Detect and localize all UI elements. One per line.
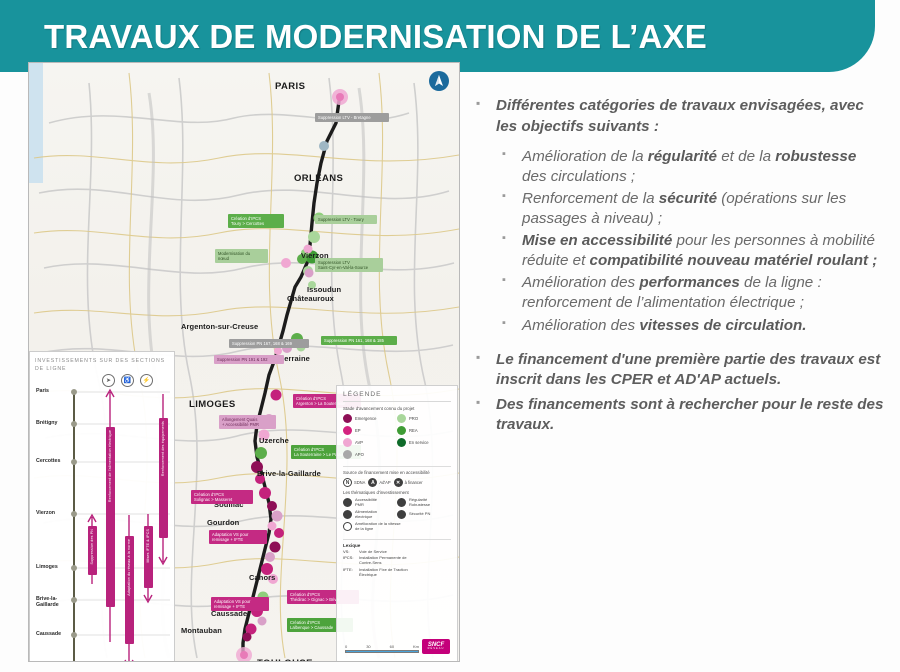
investment-bar: Renforcement des équipements xyxy=(159,418,168,539)
city-label: Issoudun xyxy=(307,285,341,294)
lexicon-definition: Voie de Service xyxy=(359,550,387,555)
investment-bar: Mises IFTE & IPCS xyxy=(144,526,153,588)
map-annotation-label: Suppression PN 191 & 192 xyxy=(214,355,284,364)
legend-stage-list: EmergencePROEPREAAVPEn serviceAPO xyxy=(343,414,451,462)
lexicon-row: VS:Voie de Service xyxy=(343,550,451,555)
legend-theme-item: Alimentation électrique xyxy=(343,510,397,519)
city-label: Cahors xyxy=(249,573,275,582)
map-annotation-label: Suppression LTV - Toury xyxy=(315,215,377,224)
map-annotation-label: Allongement Quais + Accessibilité PMR xyxy=(219,415,276,429)
speed-icon xyxy=(343,522,352,531)
bullet-level-1: Le financement d'une première partie des… xyxy=(472,350,884,391)
wheelchair-icon: ♿ xyxy=(121,374,134,387)
legend-theme-item: Sécurité PN xyxy=(397,510,451,519)
legend-stage-item: APO xyxy=(343,450,397,459)
shield-icon xyxy=(397,510,406,519)
legend-funding-item: ✕à financer xyxy=(394,478,423,487)
map-annotation-label: Suppression LTV - Bretagne xyxy=(315,113,389,122)
bullet-level-1-text: Des financements sont à rechercher pour … xyxy=(496,396,883,434)
map-panel[interactable]: PARISORLÉANSVierzonIssoudunChâteaurouxAr… xyxy=(28,62,460,662)
scalebar-tick: 60 xyxy=(390,644,394,649)
city-label: Châteauroux xyxy=(287,294,334,303)
legend-stage-item: EP xyxy=(343,426,397,435)
legend-stage-item: AVP xyxy=(343,438,397,447)
bullet-sublist: Amélioration de la régularité et de la r… xyxy=(496,147,884,336)
speed-icon: ➤ xyxy=(102,374,115,387)
legend-theme-label: Amélioration de la vitesse de la ligne xyxy=(355,522,401,531)
legend-color-swatch xyxy=(343,414,352,423)
legend-title: LÉGENDE xyxy=(343,391,451,402)
legend-stage-item: PRO xyxy=(397,414,451,423)
map-annotation-label: Suppression PN 161, 168 & 185 xyxy=(321,336,397,345)
legend-theme-label: Accessibilité PMR xyxy=(355,498,377,507)
lexicon-key: IFTE: xyxy=(343,568,356,578)
lexicon-definition: Installation Fixe de Traction Électrique xyxy=(359,568,408,578)
legend-funding-item: NSDNA xyxy=(343,478,365,487)
city-label: Argenton-sur-Creuse xyxy=(181,322,258,331)
investment-bar-label: Suppression des PN xyxy=(90,529,94,564)
clock-icon xyxy=(397,498,406,507)
legend-stage-label: REA xyxy=(409,428,418,433)
map-annotation-label: Suppression PN 167, 168 & 169 xyxy=(229,339,309,348)
investment-station-label: Caussade xyxy=(36,631,61,637)
investment-station-label: Vierzon xyxy=(36,510,55,516)
bullet-level-2: Amélioration des vitesses de circulation… xyxy=(496,316,884,336)
bullet-list: Différentes catégories de travaux envisa… xyxy=(472,96,884,436)
map-annotation-label: Suppression LTV Saint-Cyr-en-Val-la-Sour… xyxy=(315,258,383,272)
scalebar-tick: 30 xyxy=(366,644,370,649)
city-label: Uzerche xyxy=(259,436,289,445)
map-annotation-label: Création d'IPCS Solignac > Masseret xyxy=(191,490,253,504)
map-annotation-label: Création d'IPCS Toury > Cercottes xyxy=(228,214,284,228)
slide-root: TRAVAUX DE MODERNISATION DE L’AXE xyxy=(0,0,900,672)
bullet-level-1: Différentes catégories de travaux envisa… xyxy=(472,96,884,336)
bullet-level-1: Des financements sont à rechercher pour … xyxy=(472,395,884,436)
legend-stage-label: Emergence xyxy=(355,416,376,421)
investment-bar-label: Mises IFTE & IPCS xyxy=(146,529,150,563)
investment-station-label: Toulouse xyxy=(36,661,59,662)
wheelchair-icon xyxy=(343,498,352,507)
lexicon-key: IPCS: xyxy=(343,556,356,566)
legend-theme-item: Régularité Robustesse xyxy=(397,498,451,507)
scalebar-line xyxy=(345,650,419,653)
legend-funding-label: Ad'AP xyxy=(379,480,390,485)
legend-stage-label: APO xyxy=(355,452,364,457)
scalebar-unit: Km xyxy=(413,644,419,649)
map-annotation-label: Adaptation VS pour remisage + IFTE xyxy=(209,530,267,544)
city-label: LIMOGES xyxy=(189,399,236,410)
legend-color-swatch xyxy=(343,438,352,447)
city-label: Montauban xyxy=(181,626,222,635)
funding-financer-icon: ✕ xyxy=(394,478,403,487)
investment-chart-plot: ➤♿⚡ ParisBrétignyCercottesVierzonLimoges… xyxy=(30,352,174,662)
city-label: TOULOUSE xyxy=(257,658,313,662)
plug-icon xyxy=(343,510,352,519)
legend-divider-2 xyxy=(343,539,451,540)
lexicon-definition: Installation Permanente de Contre-Sens xyxy=(359,556,407,566)
investment-bar: Adaptation du réseau à la norme xyxy=(125,536,134,644)
content-column: Différentes catégories de travaux envisa… xyxy=(472,96,884,662)
funding-adap-icon: A xyxy=(368,478,377,487)
legend-theme-list: Accessibilité PMRRégularité RobustesseAl… xyxy=(343,498,451,535)
funding-sdna-icon: N xyxy=(343,478,352,487)
logo-subtext: RÉSEAU xyxy=(428,648,445,651)
bullet-level-2: Renforcement de la sécurité (opérations … xyxy=(496,189,884,229)
investment-station-label: Paris xyxy=(36,388,49,394)
investment-bar: Renforcement de l'alimentation électriqu… xyxy=(106,427,115,607)
legend-color-swatch xyxy=(397,426,406,435)
legend-theme-label: Sécurité PN xyxy=(409,512,430,517)
bullet-level-2: Mise en accessibilité pour les personnes… xyxy=(496,231,884,271)
legend-divider-1 xyxy=(343,466,451,467)
investment-chart-panel: Investissements sur des sections de lign… xyxy=(29,351,175,662)
investment-bar-label: Adaptation du réseau à la norme xyxy=(127,539,131,596)
city-label: Brive-la-Gaillarde xyxy=(257,469,321,478)
lexicon-key: VS: xyxy=(343,550,356,555)
lexicon-row: IPCS:Installation Permanente de Contre-S… xyxy=(343,556,451,566)
legend-funding-item: AAd'AP xyxy=(368,478,390,487)
city-label: Gourdon xyxy=(207,518,239,527)
legend-funding-label: à financer xyxy=(405,480,423,485)
north-arrow-icon xyxy=(429,71,449,91)
city-label: ORLÉANS xyxy=(294,173,343,184)
legend-funding-label: SDNA xyxy=(354,480,365,485)
legend-color-swatch xyxy=(343,450,352,459)
legend-themes-heading: Les thématiques d'investissement xyxy=(343,490,451,495)
investment-bar-label: Renforcement de l'alimentation électriqu… xyxy=(108,430,112,502)
legend-stage-label: PRO xyxy=(409,416,418,421)
legend-stage-item: En service xyxy=(397,438,451,447)
legend-lexicon-list: VS:Voie de ServiceIPCS:Installation Perm… xyxy=(343,550,451,578)
investment-station-label: Brive-la- Gaillarde xyxy=(36,596,59,608)
legend-color-swatch xyxy=(397,414,406,423)
map-annotation-label: Modernisation du nœud xyxy=(215,249,268,263)
investment-chart-svg xyxy=(30,352,176,662)
legend-funding-list: NSDNAAAd'AP✕à financer xyxy=(343,478,451,487)
legend-stage-item: REA xyxy=(397,426,451,435)
city-label: PARIS xyxy=(275,81,305,92)
legend-stage-label: AVP xyxy=(355,440,363,445)
legend-lexicon-heading: Lexique xyxy=(343,543,451,548)
legend-color-swatch xyxy=(343,426,352,435)
legend-theme-label: Régularité Robustesse xyxy=(409,498,430,507)
investment-station-label: Cercottes xyxy=(36,458,60,464)
plug-icon: ⚡ xyxy=(140,374,153,387)
scalebar-tick: 0 xyxy=(345,644,347,649)
sncf-reseau-logo: SNCF RÉSEAU xyxy=(422,639,450,654)
investment-bar: Suppression des PN xyxy=(88,526,97,574)
legend-funding-heading: Source de financement mise en accessibil… xyxy=(343,470,451,475)
investment-station-label: Brétigny xyxy=(36,420,58,426)
page-title: TRAVAUX DE MODERNISATION DE L’AXE xyxy=(44,18,707,56)
investment-bar-label: Renforcement des équipements xyxy=(161,421,165,476)
bullet-level-2: Amélioration des performances de la lign… xyxy=(496,273,884,313)
legend-theme-label: Alimentation électrique xyxy=(355,510,377,519)
bullet-level-2: Amélioration de la régularité et de la r… xyxy=(496,147,884,187)
map-legend: LÉGENDE Stade d'avancement connu du proj… xyxy=(336,385,458,662)
legend-color-swatch xyxy=(397,438,406,447)
investment-station-label: Limoges xyxy=(36,564,58,570)
legend-stage-label: En service xyxy=(409,440,429,445)
bullet-level-1-text: Le financement d'une première partie des… xyxy=(496,351,880,389)
scalebar-ticks: 03060Km xyxy=(345,644,419,649)
bullet-level-1-text: Différentes catégories de travaux envisa… xyxy=(496,97,864,135)
legend-stage-label: EP xyxy=(355,428,361,433)
legend-stage-heading: Stade d'avancement connu du projet xyxy=(343,406,451,411)
lexicon-row: IFTE:Installation Fixe de Traction Élect… xyxy=(343,568,451,578)
map-annotation-label: Adaptation VS pour remisage + IFTE xyxy=(211,597,269,611)
map-scalebar: 03060Km xyxy=(345,644,419,653)
legend-stage-item: Emergence xyxy=(343,414,397,423)
legend-theme-item: Amélioration de la vitesse de la ligne xyxy=(343,522,451,531)
legend-theme-item: Accessibilité PMR xyxy=(343,498,397,507)
